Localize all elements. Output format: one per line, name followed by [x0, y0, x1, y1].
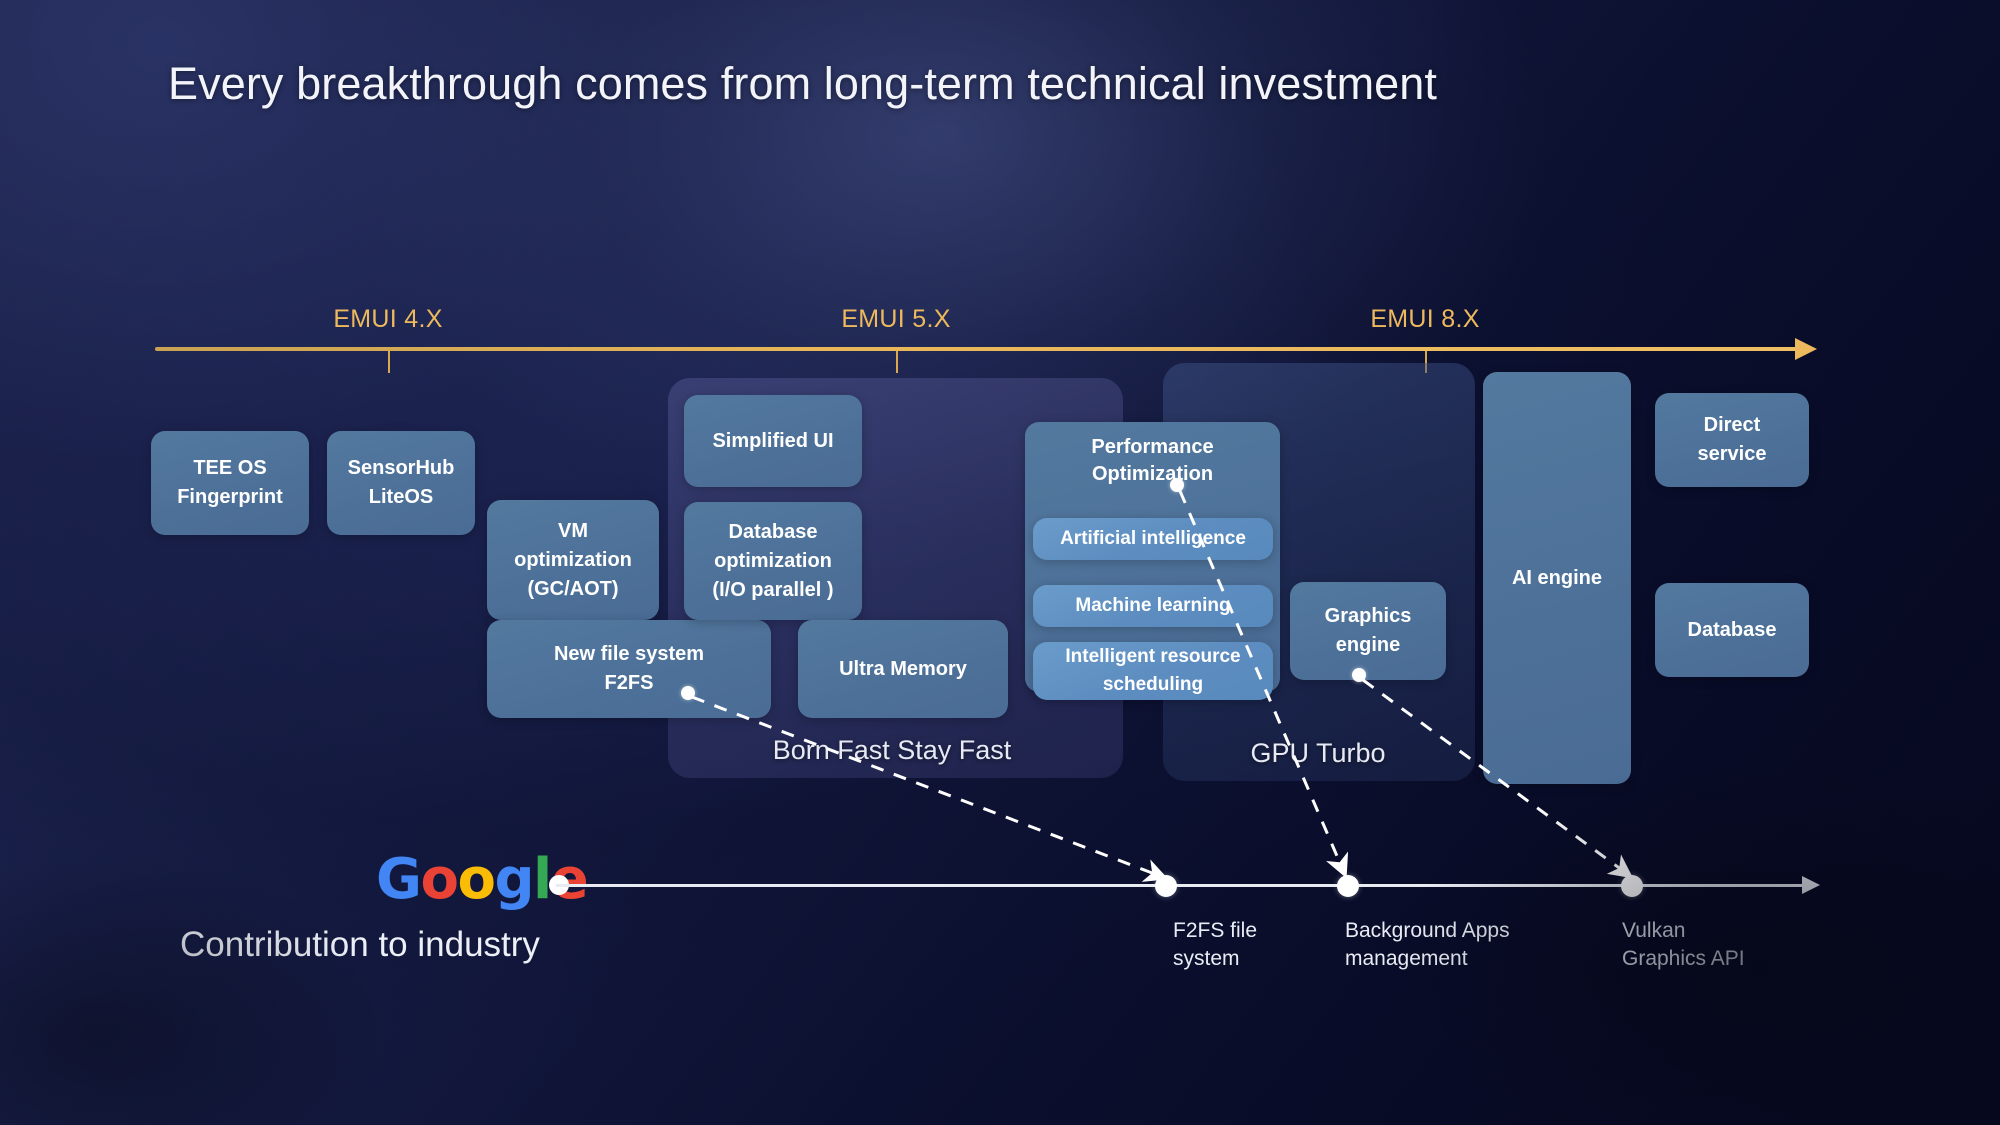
- card-label: VM optimization (GC/AOT): [514, 517, 632, 604]
- google-letter-l: l: [533, 852, 551, 908]
- industry-dot-background-apps[interactable]: [1337, 875, 1359, 897]
- card-graphics-engine[interactable]: Graphics engine: [1290, 582, 1446, 680]
- card-label: Intelligent resource scheduling: [1065, 643, 1240, 698]
- industry-dot-f2fs[interactable]: [1155, 875, 1177, 897]
- card-label: Simplified UI: [712, 427, 833, 456]
- industry-label-background-apps: Background Apps management: [1345, 917, 1510, 974]
- card-artificial-intelligence[interactable]: Artificial intelligence: [1033, 518, 1273, 560]
- card-direct-service[interactable]: Direct service: [1655, 393, 1809, 487]
- card-tee-os-fingerprint[interactable]: TEE OS Fingerprint: [151, 431, 309, 535]
- card-label: Graphics engine: [1325, 602, 1412, 660]
- performance-optimization-heading: Performance Optimization: [1025, 422, 1280, 488]
- card-label: AI engine: [1512, 564, 1602, 593]
- emui-label-8x: EMUI 8.X: [1370, 305, 1479, 334]
- emui-tick-5x: [896, 351, 898, 373]
- card-label: Machine learning: [1075, 592, 1230, 620]
- contribution-heading: Contribution to industry: [180, 925, 540, 965]
- card-intelligent-resource-scheduling[interactable]: Intelligent resource scheduling: [1033, 642, 1273, 700]
- emui-label-5x: EMUI 5.X: [841, 305, 950, 334]
- card-label: Database optimization (I/O parallel ): [712, 518, 833, 605]
- page-title: Every breakthrough comes from long-term …: [168, 58, 1868, 110]
- emui-timeline-arrowhead: [1795, 338, 1817, 360]
- google-letter-o1: o: [420, 852, 457, 908]
- group-label-born-fast-stay-fast: Born Fast Stay Fast: [773, 735, 1012, 766]
- card-label: Artificial intelligence: [1060, 525, 1246, 553]
- industry-dot-vulkan[interactable]: [1621, 875, 1643, 897]
- card-vm-optimization[interactable]: VM optimization (GC/AOT): [487, 500, 659, 620]
- card-ultra-memory[interactable]: Ultra Memory: [798, 620, 1008, 718]
- card-ai-engine[interactable]: AI engine: [1483, 372, 1631, 784]
- connector-dot-f2fs: [681, 686, 695, 700]
- industry-label-f2fs: F2FS file system: [1173, 917, 1257, 974]
- card-database[interactable]: Database: [1655, 583, 1809, 677]
- card-new-file-system-f2fs[interactable]: New file system F2FS: [487, 620, 771, 718]
- card-label: Database: [1688, 616, 1777, 645]
- google-letter-g1: G: [376, 852, 420, 908]
- card-label: SensorHub LiteOS: [348, 454, 455, 512]
- card-sensorhub-liteos[interactable]: SensorHub LiteOS: [327, 431, 475, 535]
- connector-dot-graphics-engine: [1352, 668, 1366, 682]
- google-letter-o2: o: [457, 852, 494, 908]
- emui-timeline-axis: [155, 347, 1803, 351]
- industry-label-vulkan: Vulkan Graphics API: [1622, 917, 1745, 974]
- google-letter-g2: g: [494, 852, 533, 908]
- card-label: Ultra Memory: [839, 655, 967, 684]
- emui-tick-4x: [388, 351, 390, 373]
- card-machine-learning[interactable]: Machine learning: [1033, 585, 1273, 627]
- card-label: Direct service: [1698, 411, 1767, 469]
- card-database-optimization[interactable]: Database optimization (I/O parallel ): [684, 502, 862, 620]
- slide-root: Every breakthrough comes from long-term …: [0, 0, 2000, 1125]
- emui-label-4x: EMUI 4.X: [333, 305, 442, 334]
- connector-dot-performance-optimization: [1170, 478, 1184, 492]
- card-simplified-ui[interactable]: Simplified UI: [684, 395, 862, 487]
- card-label: TEE OS Fingerprint: [177, 454, 283, 512]
- group-label-gpu-turbo: GPU Turbo: [1250, 738, 1385, 769]
- industry-timeline-arrowhead: [1802, 876, 1820, 894]
